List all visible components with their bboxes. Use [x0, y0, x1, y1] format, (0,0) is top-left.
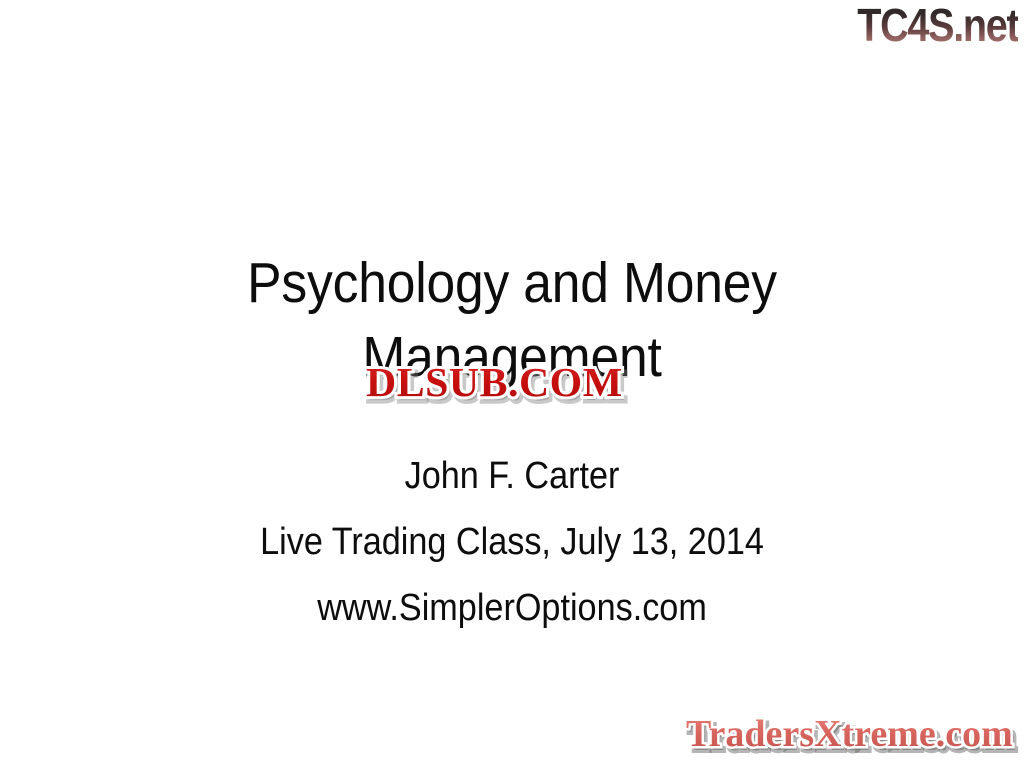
subtitle-placeholder[interactable]: John F. Carter Live Trading Class, July …	[0, 443, 1024, 641]
subtitle-line-presenter: John F. Carter	[51, 443, 973, 509]
subtitle-line-event: Live Trading Class, July 13, 2014	[51, 509, 973, 575]
watermark-tradersxtreme-fill-layer: TradersXtreme.com	[686, 713, 1013, 755]
subtitle-line-website: www.SimplerOptions.com	[51, 575, 973, 641]
watermark-tradersxtreme-com: TradersXtreme.com TradersXtreme.com Trad…	[686, 712, 1013, 756]
watermark-tc4s-net: TC4S.net	[857, 0, 1018, 52]
watermark-dlsub-com: DLSUB.COM DLSUB.COM DLSUB.COM	[366, 358, 623, 406]
presentation-slide: Psychology and Money Management John F. …	[0, 0, 1024, 768]
watermark-dlsub-fill-layer: DLSUB.COM	[366, 359, 623, 405]
